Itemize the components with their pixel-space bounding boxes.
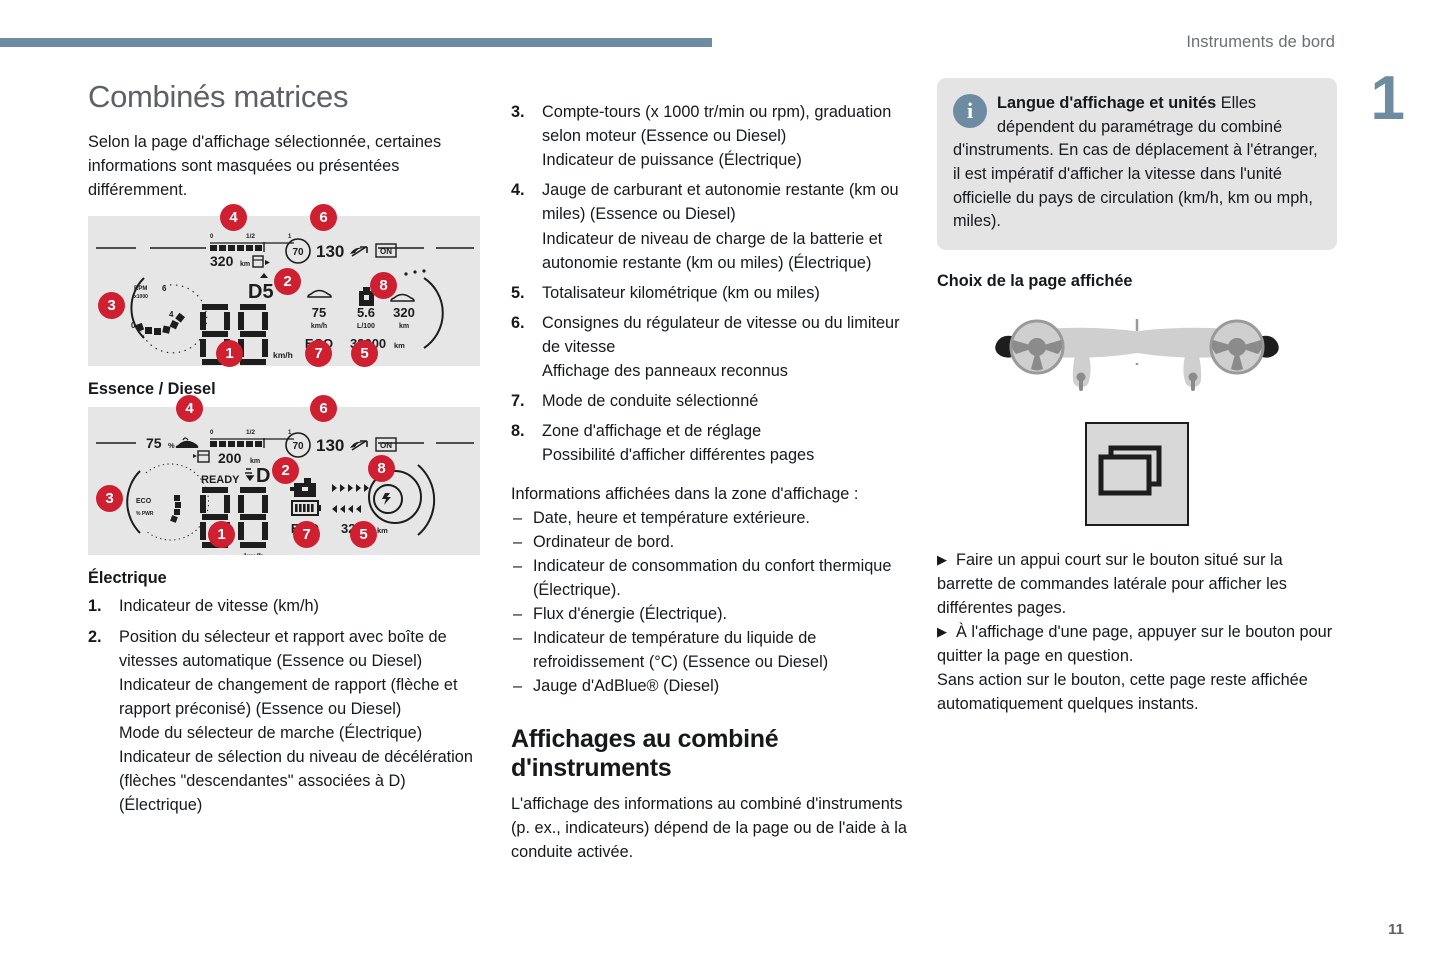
- legend-number: 3.: [511, 100, 525, 124]
- bullet-item: –Ordinateur de bord.: [511, 530, 911, 554]
- legend-item-4: 4. Jauge de carburant et autonomie resta…: [511, 178, 911, 274]
- info-box-body: Elles dépendent du paramétrage du combin…: [953, 94, 1318, 230]
- legend-number: 4.: [511, 178, 525, 202]
- svg-text:L/100: L/100: [357, 323, 375, 330]
- section-body-affichages: L'affichage des informations au combiné …: [511, 792, 911, 864]
- triangle-marker-icon: ▶: [937, 622, 947, 641]
- steering-stalk-svg: [937, 309, 1337, 399]
- legend-text: Mode du sélecteur de marche (Électrique): [119, 721, 488, 745]
- legend-text: Zone d'affichage et de réglage: [542, 419, 911, 443]
- legend-item-7: 7. Mode de conduite sélectionné: [511, 389, 911, 413]
- left-column: Combinés matrices Selon la page d'affich…: [88, 80, 488, 823]
- svg-text:6: 6: [162, 284, 167, 293]
- legend-text: Indicateur de changement de rapport (flè…: [119, 673, 488, 721]
- svg-text:75: 75: [146, 435, 162, 451]
- triangle-marker-icon: ▶: [937, 550, 947, 569]
- info-icon: i: [953, 94, 987, 128]
- svg-text:RPM: RPM: [134, 286, 147, 292]
- legend-text: Indicateur de sélection du niveau de déc…: [119, 745, 488, 817]
- svg-text:130: 130: [316, 436, 344, 455]
- display-zone-bullets: –Date, heure et température extérieure. …: [511, 506, 911, 699]
- legend-number: 8.: [511, 419, 525, 443]
- svg-text:4: 4: [169, 310, 174, 319]
- bullet-item: –Indicateur de consommation du confort t…: [511, 554, 911, 602]
- legend-item-2: 2. Position du sélecteur et rapport avec…: [88, 625, 488, 818]
- svg-text:ECO: ECO: [136, 498, 152, 505]
- bullet-item: –Flux d'énergie (Électrique).: [511, 602, 911, 626]
- svg-text:km/h: km/h: [244, 551, 264, 555]
- legend-item-3: 3. Compte-tours (x 1000 tr/min ou rpm), …: [511, 100, 911, 172]
- figure-cluster-electrique: 75 % 0 1/2 1: [88, 407, 480, 555]
- svg-text:km: km: [377, 526, 388, 535]
- action-text: À l'affichage d'une page, appuyer sur le…: [937, 623, 1332, 665]
- legend-text: Jauge de carburant et autonomie restante…: [542, 178, 911, 226]
- svg-text:320: 320: [393, 305, 415, 320]
- bullet-item: –Date, heure et température extérieure.: [511, 506, 911, 530]
- header-accent-rule: [0, 38, 712, 47]
- legend-text: Indicateur de puissance (Électrique): [542, 148, 911, 172]
- display-zone-lead: Informations affichées dans la zone d'af…: [511, 482, 911, 506]
- svg-text:0: 0: [131, 321, 136, 330]
- svg-text:130: 130: [316, 242, 344, 261]
- svg-text:5.6: 5.6: [357, 305, 375, 320]
- svg-text:70: 70: [292, 441, 304, 452]
- figure-caption-electrique: Électrique: [88, 569, 488, 588]
- running-title: Instruments de bord: [1186, 33, 1335, 52]
- page-title: Combinés matrices: [88, 80, 488, 114]
- svg-text:%: %: [168, 441, 175, 450]
- dash-marker: –: [513, 674, 522, 698]
- svg-text:x1000: x1000: [134, 294, 148, 300]
- legend-text: Indicateur de niveau de charge de la bat…: [542, 227, 911, 275]
- svg-text:1/2: 1/2: [246, 233, 255, 240]
- legend-list-middle: 3. Compte-tours (x 1000 tr/min ou rpm), …: [511, 100, 911, 468]
- dash-marker: –: [513, 554, 522, 578]
- action-item-1: ▶Faire un appui court sur le bouton situ…: [937, 548, 1337, 620]
- dash-marker: –: [513, 506, 522, 530]
- bullet-item: –Indicateur de température du liquide de…: [511, 626, 911, 674]
- figure-steering-stalk: [937, 291, 1337, 526]
- action-item-2: ▶À l'affichage d'une page, appuyer sur l…: [937, 620, 1337, 668]
- legend-item-5: 5. Totalisateur kilométrique (km ou mile…: [511, 281, 911, 305]
- legend-number: 5.: [511, 281, 525, 305]
- svg-text:1/2: 1/2: [246, 429, 255, 436]
- manual-page: Instruments de bord 1 11 Combinés matric…: [0, 0, 1445, 963]
- svg-text:ON: ON: [380, 441, 392, 450]
- legend-item-6: 6. Consignes du régulateur de vitesse ou…: [511, 311, 911, 383]
- legend-text: Consignes du régulateur de vitesse ou du…: [542, 311, 911, 359]
- bullet-text: Jauge d'AdBlue® (Diesel): [533, 677, 719, 695]
- bullet-text: Indicateur de consommation du confort th…: [533, 557, 891, 599]
- info-box-title: Langue d'affichage et unités: [997, 94, 1216, 112]
- svg-text:D5: D5: [248, 281, 274, 303]
- info-callout-box: i Langue d'affichage et unités Elles dép…: [937, 78, 1337, 250]
- page-number: 11: [1388, 921, 1404, 938]
- svg-text:km/h: km/h: [311, 323, 327, 330]
- action-text: Faire un appui court sur le bouton situé…: [937, 551, 1287, 617]
- svg-text:% PWR: % PWR: [136, 511, 154, 517]
- svg-text:D: D: [256, 465, 270, 487]
- section-title-affichages: Affichages au combiné d'instruments: [511, 725, 911, 784]
- bullet-text: Flux d'énergie (Électrique).: [533, 605, 727, 623]
- svg-text:km: km: [250, 458, 260, 465]
- legend-number: 1.: [88, 594, 102, 618]
- svg-text:75: 75: [312, 305, 326, 320]
- legend-item-1: 1. Indicateur de vitesse (km/h): [88, 594, 488, 618]
- right-note: Sans action sur le bouton, cette page re…: [937, 668, 1337, 716]
- chapter-number: 1: [1371, 68, 1403, 130]
- svg-text:km: km: [399, 323, 409, 330]
- svg-text:200: 200: [218, 450, 242, 466]
- svg-text:km: km: [240, 261, 250, 268]
- legend-text: Mode de conduite sélectionné: [542, 389, 911, 413]
- legend-number: 6.: [511, 311, 525, 335]
- right-instructions: ▶Faire un appui court sur le bouton situ…: [937, 548, 1337, 717]
- svg-text:km: km: [394, 341, 405, 350]
- legend-text: Affichage des panneaux reconnus: [542, 359, 911, 383]
- dash-marker: –: [513, 602, 522, 626]
- svg-text:ON: ON: [380, 247, 392, 256]
- legend-number: 2.: [88, 625, 102, 649]
- dash-marker: –: [513, 626, 522, 650]
- intro-paragraph: Selon la page d'affichage sélectionnée, …: [88, 130, 488, 202]
- dash-marker: –: [513, 530, 522, 554]
- legend-text: Compte-tours (x 1000 tr/min ou rpm), gra…: [542, 100, 911, 148]
- figure-cluster-essence-diesel: 0 1/2 1 320 km: [88, 216, 480, 366]
- legend-text: Totalisateur kilométrique (km ou miles): [542, 281, 911, 305]
- stacked-pages-icon: [1087, 424, 1183, 520]
- figure-caption-essence-diesel: Essence / Diesel: [88, 380, 488, 399]
- middle-column: 3. Compte-tours (x 1000 tr/min ou rpm), …: [511, 100, 911, 864]
- subtitle-choix-page: Choix de la page affichée: [937, 272, 1337, 291]
- legend-item-8: 8. Zone d'affichage et de réglage Possib…: [511, 419, 911, 467]
- svg-text:320: 320: [210, 253, 234, 269]
- page-button-icon: [1085, 422, 1189, 526]
- legend-number: 7.: [511, 389, 525, 413]
- legend-list-left: 1. Indicateur de vitesse (km/h) 2. Posit…: [88, 594, 488, 817]
- svg-text:70: 70: [292, 247, 304, 258]
- svg-text:km/h: km/h: [273, 350, 293, 360]
- svg-text:READY: READY: [201, 474, 240, 486]
- bullet-text: Ordinateur de bord.: [533, 533, 674, 551]
- right-column: i Langue d'affichage et unités Elles dép…: [937, 78, 1337, 717]
- bullet-text: Date, heure et température extérieure.: [533, 509, 810, 527]
- legend-text: Possibilité d'afficher différentes pages: [542, 443, 911, 467]
- legend-text: Indicateur de vitesse (km/h): [119, 594, 488, 618]
- svg-text:2: 2: [148, 327, 153, 336]
- bullet-item: –Jauge d'AdBlue® (Diesel): [511, 674, 911, 698]
- legend-text: Position du sélecteur et rapport avec bo…: [119, 625, 488, 673]
- bullet-text: Indicateur de température du liquide de …: [533, 629, 828, 671]
